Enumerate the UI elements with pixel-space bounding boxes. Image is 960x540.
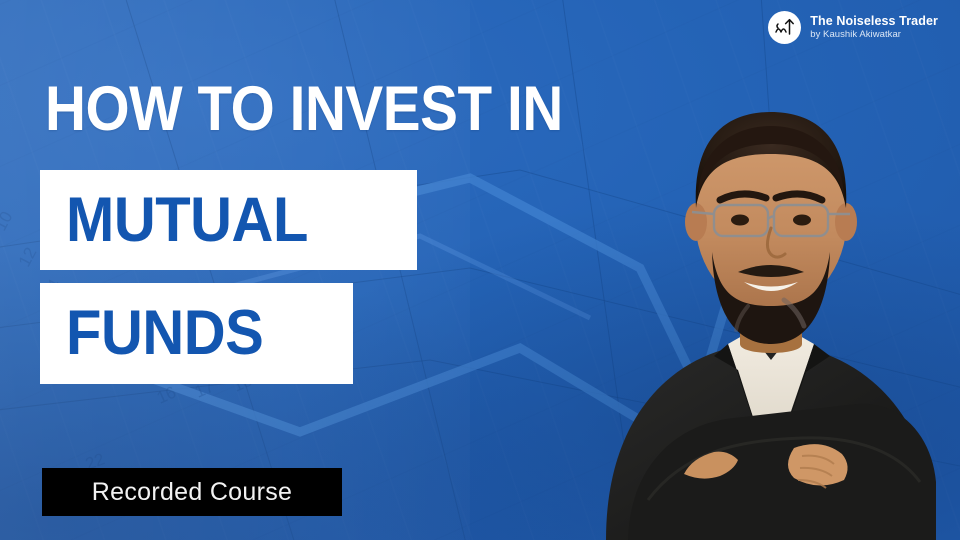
brand-title: The Noiseless Trader: [810, 15, 938, 28]
course-thumbnail: 10 12 14 16 17 18 22: [0, 0, 960, 540]
brand-text: The Noiseless Trader by Kaushik Akiwatka…: [810, 15, 938, 40]
recorded-course-badge: Recorded Course: [42, 468, 342, 516]
headline-highlight-band-funds: FUNDS: [40, 283, 353, 384]
presenter-portrait: [588, 0, 960, 540]
brand-byline: by Kaushik Akiwatkar: [810, 30, 938, 40]
brand-lockup: The Noiseless Trader by Kaushik Akiwatka…: [768, 11, 938, 44]
recorded-course-label: Recorded Course: [92, 478, 292, 507]
headline-word-mutual: MUTUAL: [66, 189, 308, 252]
headline-word-funds: FUNDS: [66, 302, 263, 365]
brand-logo-icon: [768, 11, 801, 44]
headline-line-1: HOW TO INVEST IN: [45, 78, 563, 141]
headline-highlight-band-mutual: MUTUAL: [40, 170, 417, 270]
